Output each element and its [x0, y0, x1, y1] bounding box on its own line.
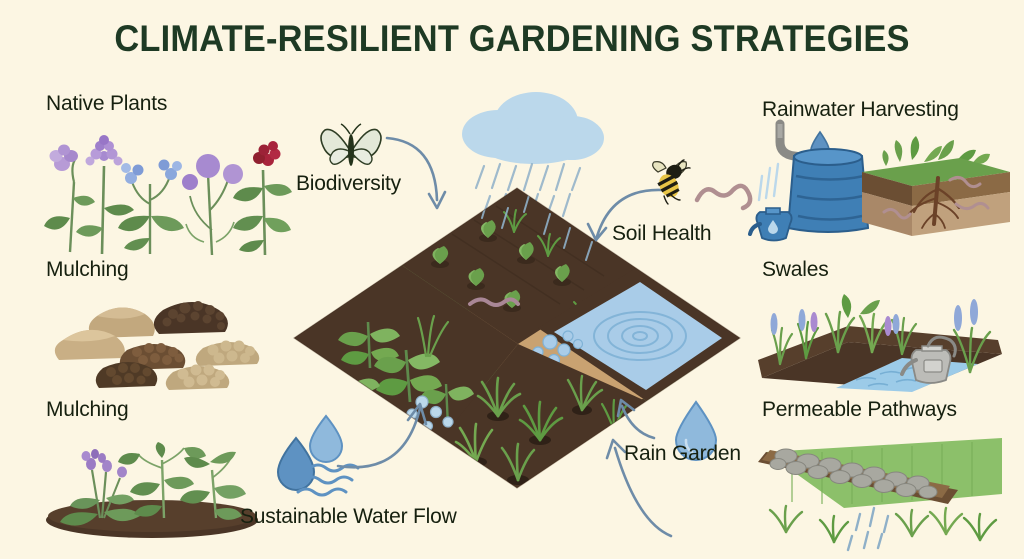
- label-rain-garden: Rain Garden: [624, 442, 741, 466]
- label-mulching-top: Mulching: [46, 258, 128, 282]
- label-soil-health: Soil Health: [612, 222, 711, 246]
- permeable-pathway-illustration: [752, 424, 1012, 554]
- mulch-piles-illustration: [55, 288, 285, 393]
- label-rainwater-harvesting: Rainwater Harvesting: [762, 98, 959, 122]
- mulched-bed-illustration: [40, 422, 270, 542]
- page-title: CLIMATE-RESILIENT GARDENING STRATEGIES: [36, 18, 988, 60]
- bee-icon: [648, 160, 698, 206]
- soil-cross-section-illustration: [860, 128, 1012, 240]
- infographic-canvas: CLIMATE-RESILIENT GARDENING STRATEGIES N…: [0, 0, 1024, 559]
- label-sustainable-water-flow: Sustainable Water Flow: [240, 505, 457, 529]
- native-plants-illustration: [30, 112, 295, 257]
- butterfly-icon: [320, 122, 382, 174]
- arrow-water-flow-to-garden: [336, 398, 428, 470]
- label-permeable-pathways: Permeable Pathways: [762, 398, 957, 422]
- label-mulching-bottom: Mulching: [46, 398, 128, 422]
- swale-illustration: [752, 282, 1012, 392]
- earthworm-icon: [694, 182, 752, 216]
- label-swales: Swales: [762, 258, 829, 282]
